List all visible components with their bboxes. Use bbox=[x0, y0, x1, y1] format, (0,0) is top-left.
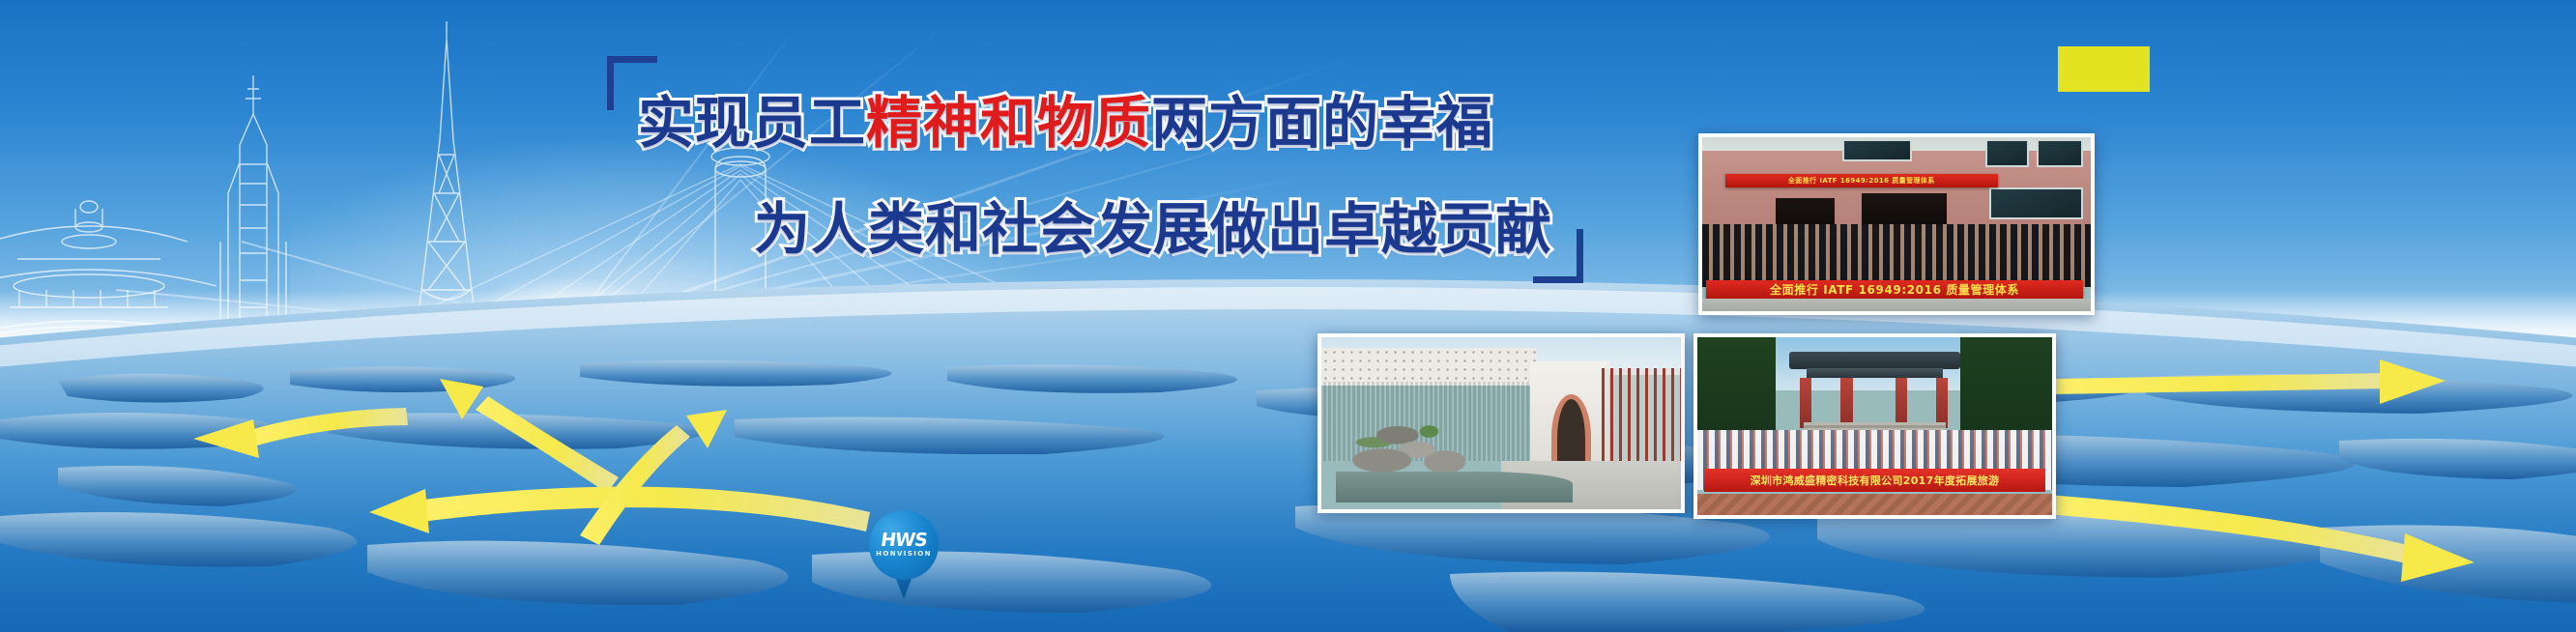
gate-pillar bbox=[1936, 378, 1948, 428]
photo-outing-group[interactable]: 深圳市鸿威盛精密科技有限公司2017年度拓展旅游 bbox=[1693, 333, 2056, 519]
garden-pond-wall bbox=[1336, 472, 1574, 503]
photo-outing-group-content: 深圳市鸿威盛精密科技有限公司2017年度拓展旅游 bbox=[1697, 337, 2052, 515]
temple-of-heaven-icon bbox=[0, 201, 236, 367]
logo-wordmark: HONVISION bbox=[869, 550, 939, 558]
outing-banner: 深圳市鸿威盛精密科技有限公司2017年度拓展旅游 bbox=[1704, 469, 2044, 492]
slogan-line1-post: 两方面的幸福 bbox=[1151, 90, 1493, 156]
factory-window bbox=[2037, 139, 2083, 167]
factory-ground bbox=[1702, 299, 2091, 311]
jin-mao-tower-icon bbox=[220, 75, 286, 343]
eiffel-tower-icon bbox=[406, 21, 487, 343]
factory-banner-bottom: 全面推行 IATF 16949:2016 质量管理体系 bbox=[1706, 280, 2083, 300]
gate-roof-upper bbox=[1789, 352, 1959, 370]
gate-pillar bbox=[1840, 378, 1852, 428]
photo-courtyard-garden[interactable] bbox=[1317, 333, 1685, 513]
garden-pergola bbox=[1602, 368, 1681, 465]
factory-banner-top: 全面推行 IATF 16949:2016 质量管理体系 bbox=[1725, 174, 1997, 187]
slogan-line2-text: 为人类和社会发展做出卓越贡献 bbox=[754, 196, 1552, 262]
slogan-line-2: 为人类和社会发展做出卓越贡献 bbox=[754, 201, 1552, 257]
slogan-line1-pre: 实现员工 bbox=[638, 90, 866, 156]
factory-window bbox=[1842, 139, 1912, 161]
factory-window bbox=[1989, 187, 2082, 218]
sun-core bbox=[454, 275, 677, 391]
factory-window bbox=[1985, 139, 2028, 167]
corporate-culture-banner: 实现员工精神和物质两方面的幸福 为人类和社会发展做出卓越贡献 全面推行 IATF… bbox=[0, 0, 2576, 632]
yellow-accent-rectangle bbox=[2058, 46, 2150, 92]
gate-roof-lower bbox=[1807, 368, 1943, 378]
garden-textured-wall bbox=[1321, 348, 1537, 386]
outing-brick-ground bbox=[1697, 494, 2052, 515]
gate-pillar bbox=[1800, 378, 1811, 428]
map-pin-logo[interactable]: HWS HONVISION bbox=[869, 510, 939, 599]
photo-courtyard-garden-content bbox=[1321, 337, 1681, 509]
factory-crowd bbox=[1702, 224, 2091, 287]
stylized-globe bbox=[0, 226, 2576, 632]
logo-mark: HWS bbox=[867, 530, 940, 551]
horizon-glow bbox=[0, 290, 2576, 377]
slogan-line1-highlight: 精神和物质 bbox=[866, 90, 1151, 156]
gate-pillar bbox=[1896, 378, 1907, 428]
outing-chinese-gate bbox=[1789, 352, 1959, 434]
slogan-line-1: 实现员工精神和物质两方面的幸福 bbox=[638, 95, 1493, 151]
photo-iatf-group[interactable]: 全面推行 IATF 16949:2016 质量管理体系 全面推行 IATF 16… bbox=[1698, 133, 2095, 315]
photo-iatf-group-content: 全面推行 IATF 16949:2016 质量管理体系 全面推行 IATF 16… bbox=[1702, 137, 2091, 311]
slogan-block: 实现员工精神和物质两方面的幸福 为人类和社会发展做出卓越贡献 bbox=[607, 56, 1583, 283]
